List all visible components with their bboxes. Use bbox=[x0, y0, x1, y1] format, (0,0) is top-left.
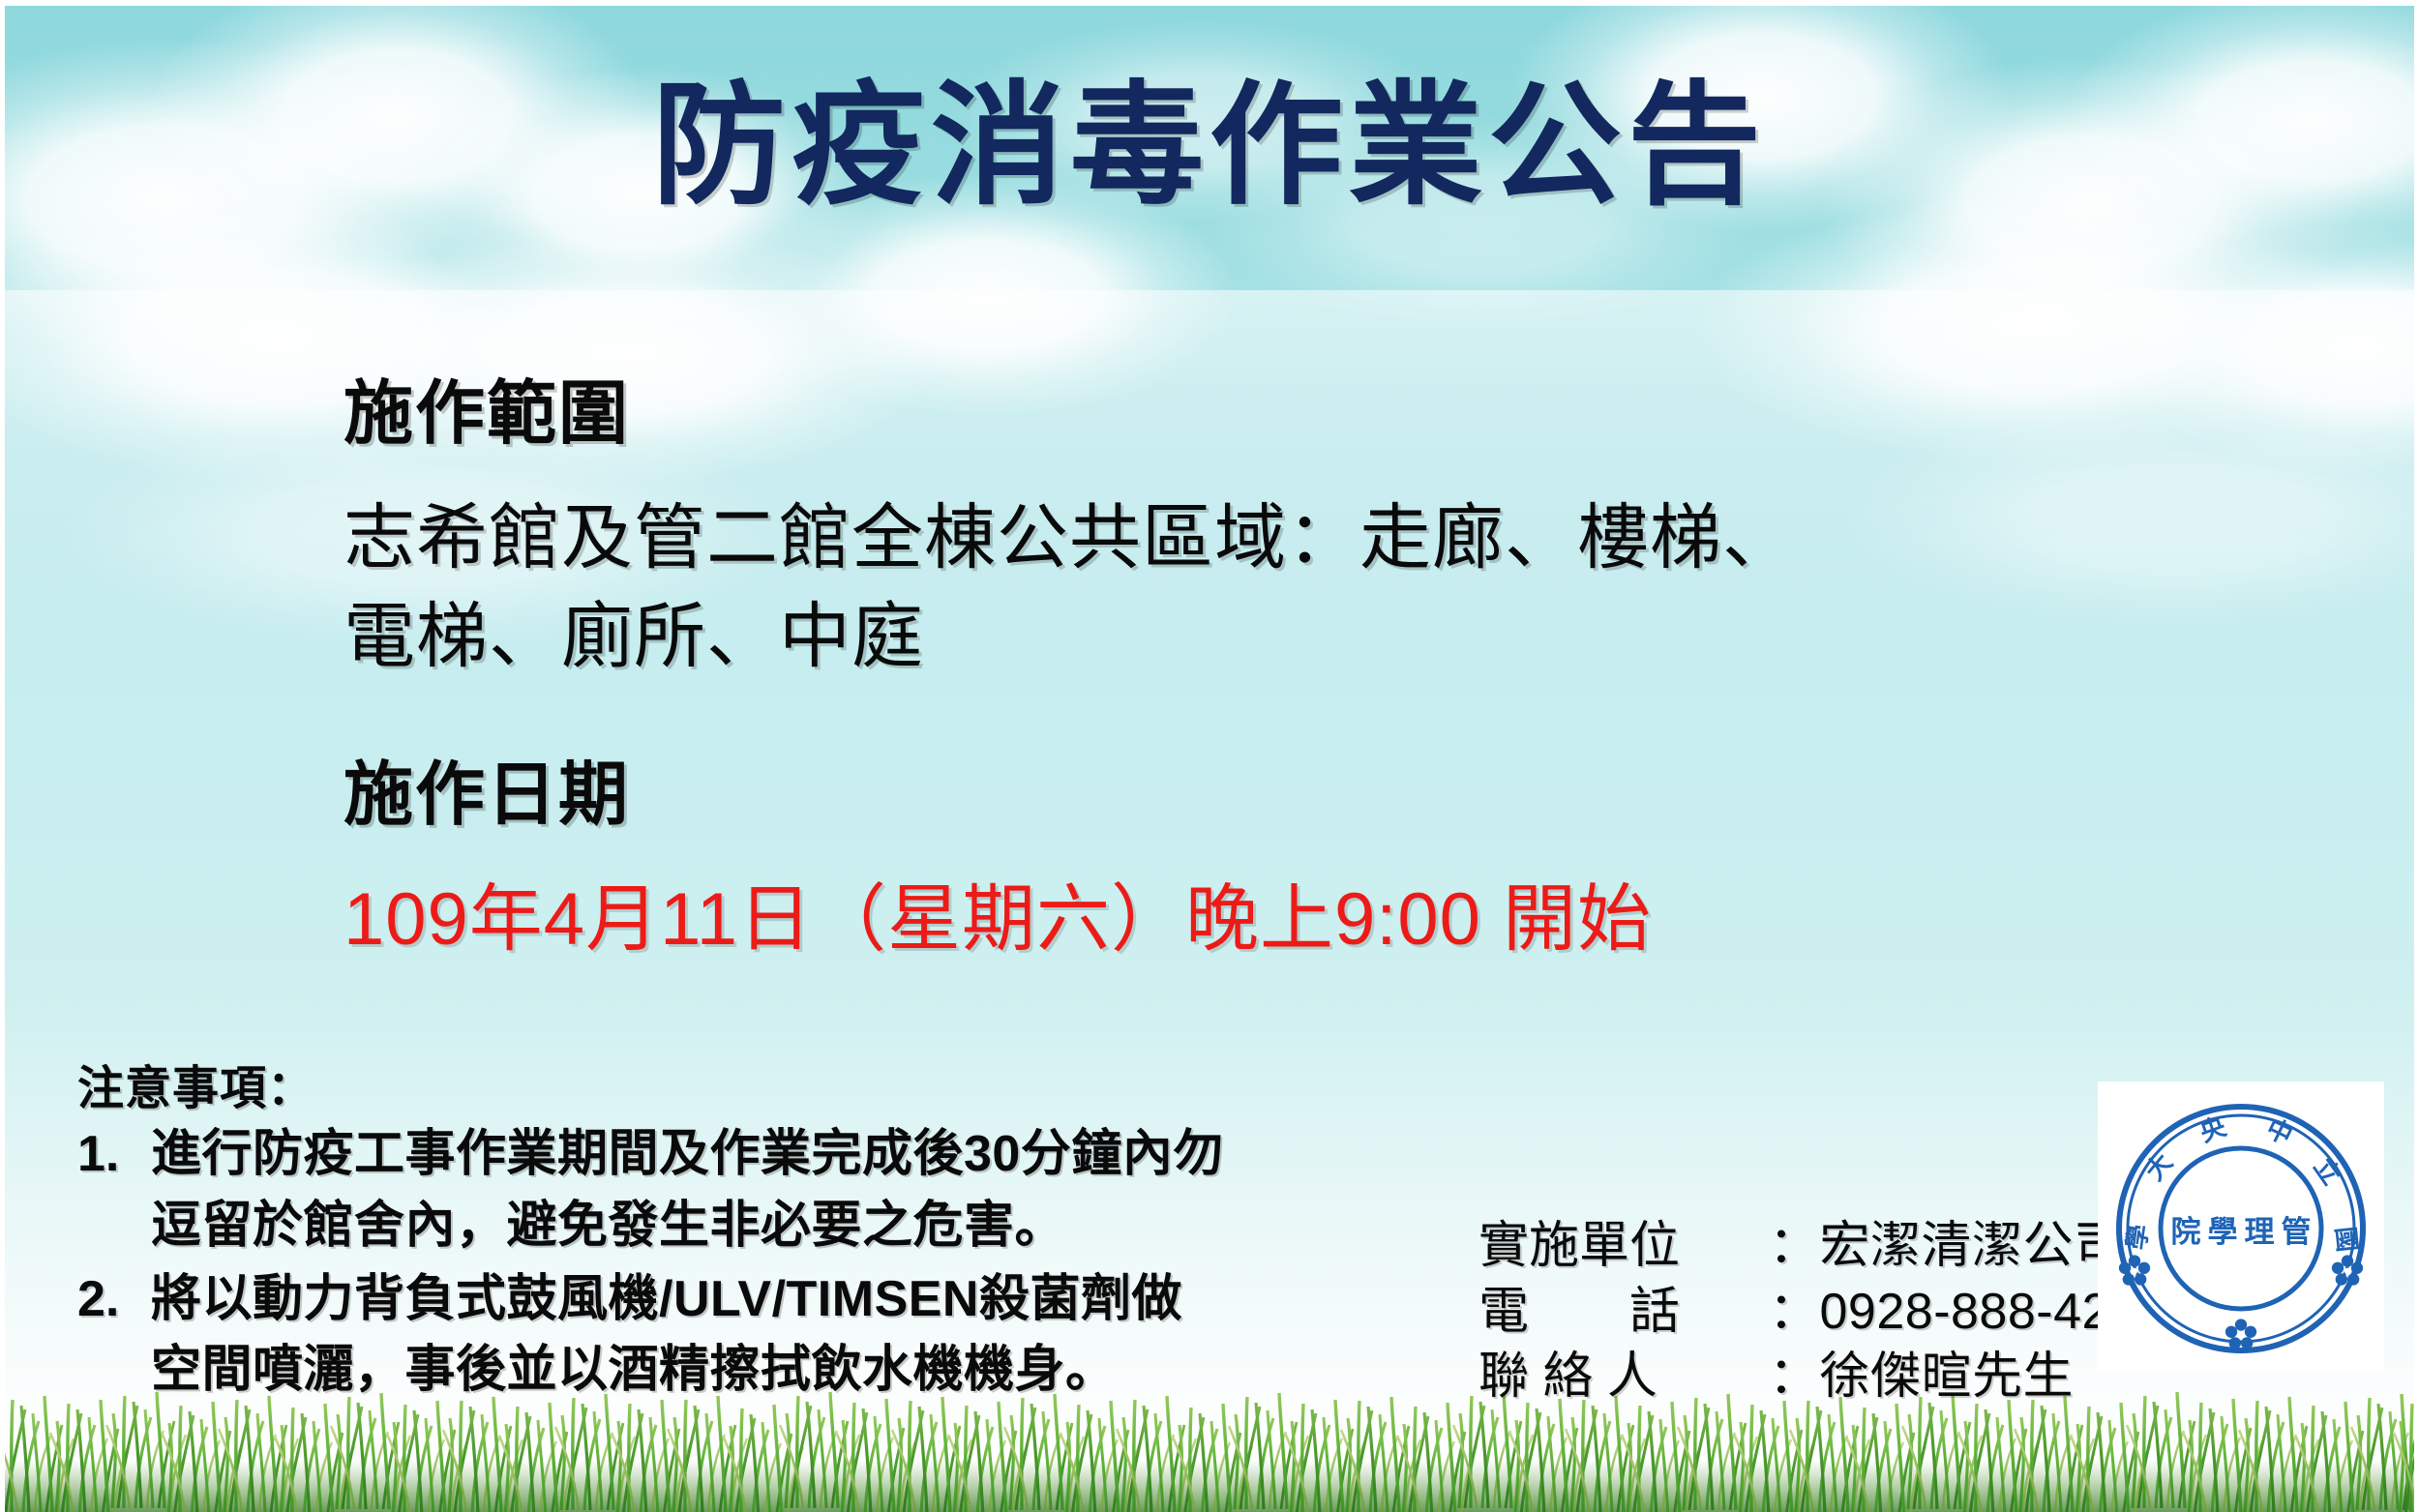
seal-inner-char: 院 bbox=[2171, 1215, 2201, 1249]
seal-inner-char: 學 bbox=[2208, 1215, 2238, 1249]
note-text-line: 逗留於館舍內，避免發生非必要之危害。 bbox=[151, 1191, 1490, 1262]
contact-separator: ： bbox=[1769, 1345, 1820, 1410]
note-text-line: 進行防疫工事作業期間及作業完成後30分鐘內勿 bbox=[151, 1119, 1490, 1191]
schedule-heading: 施作日期 bbox=[343, 737, 630, 839]
seal-outer-char: 學 bbox=[2121, 1223, 2153, 1252]
contact-value-person: 徐傑暄先生 bbox=[1820, 1345, 2075, 1410]
schedule-date-text: 109年4月11日（星期六）晚上9:00 開始 bbox=[343, 859, 1652, 965]
contact-value-phone: 0928-888-421 bbox=[1820, 1280, 2139, 1346]
page-title: 防疫消毒作業公告 bbox=[0, 70, 2419, 223]
poster-canvas: 防疫消毒作業公告 施作範圍 志希館及管二館全棟公共區域：走廊、樓梯、 電梯、廁所… bbox=[0, 0, 2419, 1512]
official-seal: 國 立 中 央 大 學 管 理 學 院 bbox=[2098, 1082, 2384, 1372]
note-item: 1. 進行防疫工事作業期間及作業完成後30分鐘內勿 逗留於館舍內，避免發生非必要… bbox=[77, 1119, 1490, 1262]
contact-block: 實施單位 ： 宏潔清潔公司 電 話 ： 0928-888-421 聯 絡 人 ：… bbox=[1478, 1214, 2138, 1410]
scope-line-2: 電梯、廁所、中庭 bbox=[343, 578, 924, 682]
contact-row-unit: 實施單位 ： 宏潔清潔公司 bbox=[1478, 1214, 2138, 1280]
scope-heading: 施作範圍 bbox=[343, 356, 630, 458]
seal-outer-char: 國 bbox=[2331, 1226, 2363, 1254]
contact-row-person: 聯 絡 人 ： 徐傑暄先生 bbox=[1478, 1345, 2138, 1410]
contact-value-unit: 宏潔清潔公司 bbox=[1820, 1214, 2125, 1280]
seal-inner-chars: 管 理 學 院 bbox=[2171, 1215, 2312, 1249]
note-number: 1. bbox=[77, 1119, 151, 1191]
contact-separator: ： bbox=[1769, 1214, 1820, 1280]
seal-inner-char: 管 bbox=[2282, 1215, 2312, 1249]
note-text: 將以動力背負式鼓風機/ULV/TIMSEN殺菌劑做 空間噴灑，事後並以酒精擦拭飲… bbox=[151, 1264, 1490, 1408]
notes-list: 1. 進行防疫工事作業期間及作業完成後30分鐘內勿 逗留於館舍內，避免發生非必要… bbox=[77, 1119, 1490, 1408]
contact-label-person: 聯 絡 人 bbox=[1478, 1345, 1769, 1410]
note-text-line: 將以動力背負式鼓風機/ULV/TIMSEN殺菌劑做 bbox=[151, 1264, 1490, 1336]
seal-outer-chars: 國 立 中 央 大 學 bbox=[2121, 1112, 2362, 1254]
note-number: 2. bbox=[77, 1264, 151, 1336]
contact-separator: ： bbox=[1769, 1280, 1820, 1346]
scope-line-1: 志希館及管二館全棟公共區域：走廊、樓梯、 bbox=[343, 480, 1795, 583]
contact-label-unit: 實施單位 bbox=[1478, 1214, 1769, 1280]
seal-inner-char: 理 bbox=[2245, 1215, 2275, 1249]
note-text-line: 空間噴灑，事後並以酒精擦拭飲水機機身。 bbox=[151, 1335, 1490, 1407]
note-text: 進行防疫工事作業期間及作業完成後30分鐘內勿 逗留於館舍內，避免發生非必要之危害… bbox=[151, 1119, 1490, 1262]
contact-label-phone: 電 話 bbox=[1478, 1280, 1769, 1346]
seal-stamp-icon: 國 立 中 央 大 學 管 理 學 院 bbox=[2105, 1087, 2376, 1366]
notes-heading: 注意事項： bbox=[77, 1050, 314, 1117]
contact-row-phone: 電 話 ： 0928-888-421 bbox=[1478, 1280, 2138, 1346]
note-item: 2. 將以動力背負式鼓風機/ULV/TIMSEN殺菌劑做 空間噴灑，事後並以酒精… bbox=[77, 1264, 1490, 1408]
